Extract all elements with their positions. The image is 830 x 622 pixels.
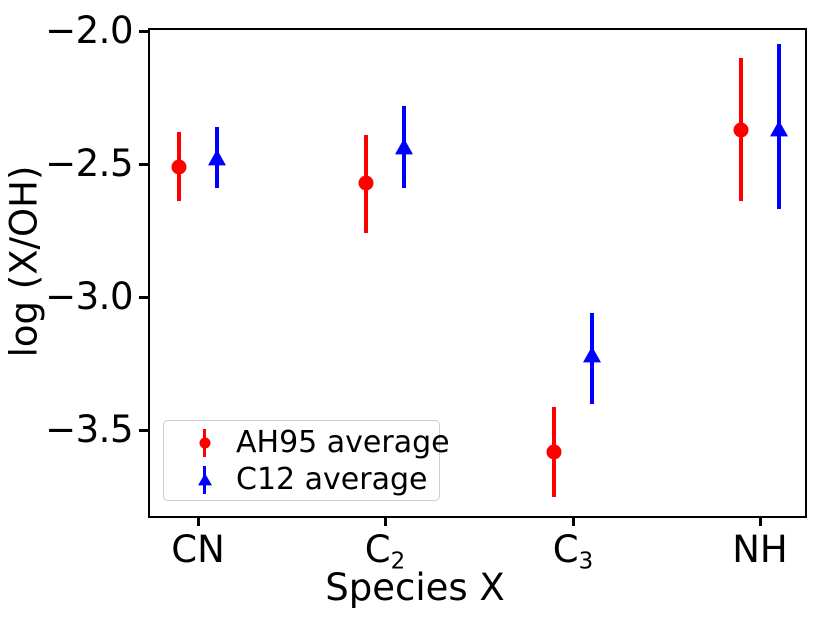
datapoint-CN-ah95 [172, 159, 187, 174]
y-tick-mark [139, 429, 148, 432]
datapoint-C2-c12 [395, 139, 413, 155]
legend-label-c12: C12 average [236, 461, 427, 499]
y-tick-label: −3.5 [45, 407, 133, 453]
x-axis-label: Species X [0, 566, 830, 609]
datapoint-C3-c12 [583, 346, 601, 362]
datapoint-C2-ah95 [359, 175, 374, 190]
y-axis-label-wrapper: log (X/OH) [3, 2, 46, 522]
y-tick-label: −2.5 [45, 141, 133, 187]
datapoint-C3-ah95 [547, 444, 562, 459]
legend-entry-ah95: AH95 average [164, 424, 439, 462]
datapoint-NH-ah95 [734, 122, 749, 137]
x-tick-mark [572, 517, 575, 526]
x-tick-mark [759, 517, 762, 526]
y-tick-label: −3.0 [45, 274, 133, 320]
x-tick-mark [197, 517, 200, 526]
legend: AH95 average C12 average [163, 420, 440, 501]
datapoint-CN-c12 [208, 149, 226, 165]
legend-marker-circle-icon [186, 424, 222, 462]
figure-canvas: −2.0 −2.5 −3.0 −3.5 CN C2 C3 [0, 0, 830, 622]
x-tick-mark [384, 517, 387, 526]
y-axis-label: log (X/OH) [3, 166, 46, 358]
legend-label-ah95: AH95 average [236, 424, 450, 462]
y-tick-mark [139, 30, 148, 33]
y-tick-mark [139, 163, 148, 166]
y-tick-mark [139, 296, 148, 299]
y-tick-label: −2.0 [45, 8, 133, 54]
legend-marker-triangle-icon [186, 461, 222, 499]
legend-entry-c12: C12 average [164, 461, 439, 499]
datapoint-NH-c12 [770, 120, 788, 136]
